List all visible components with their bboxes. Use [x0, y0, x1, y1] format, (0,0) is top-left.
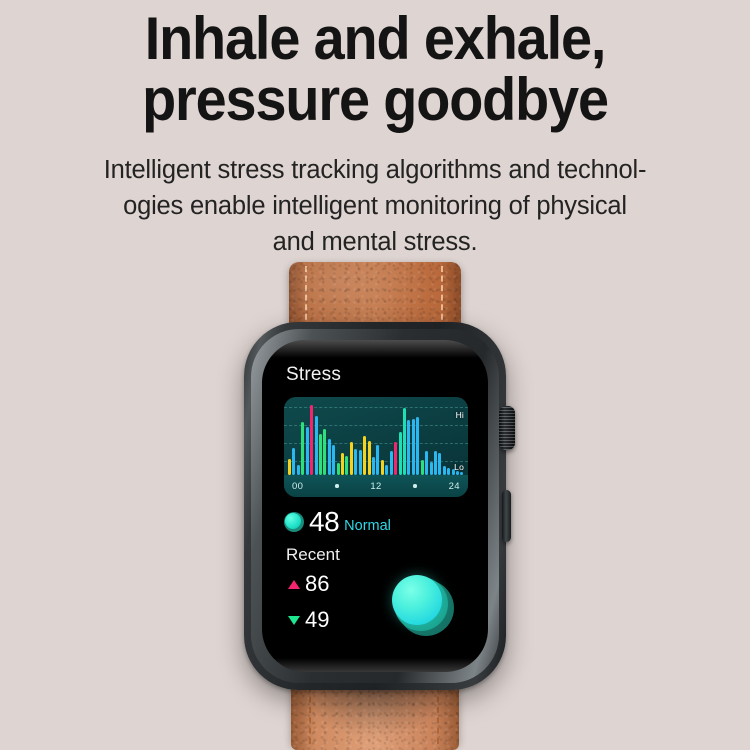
side-button[interactable]: [502, 490, 511, 542]
page-title: Stress: [286, 364, 468, 386]
chart-bar: [301, 422, 304, 475]
orb-core: [392, 575, 442, 625]
stress-chart-card[interactable]: Hi Lo 00 12 24: [284, 397, 468, 497]
chart-bar: [359, 450, 362, 475]
axis-dot-left-icon: [335, 484, 339, 488]
chart-bar: [350, 442, 353, 475]
chart-bar: [372, 457, 375, 475]
page-subcopy: Intelligent stress tracking algorithms a…: [0, 152, 750, 261]
chart-bar: [385, 465, 388, 475]
watch-bezel: Stress Hi Lo 00 12 24: [251, 329, 499, 683]
chart-bar: [430, 462, 433, 475]
stress-app-ui: Stress Hi Lo 00 12 24: [262, 340, 488, 672]
arrow-down-icon: [288, 616, 300, 625]
chart-bar: [363, 436, 366, 475]
axis-tick-24: 24: [449, 481, 460, 492]
dot-core: [285, 513, 301, 529]
chart-bar: [434, 451, 437, 476]
chart-bar: [416, 417, 419, 475]
chart-bar: [394, 442, 397, 475]
chart-bar: [376, 445, 379, 475]
chart-hi-label: Hi: [456, 410, 464, 420]
chart-bar: [306, 427, 309, 475]
chart-bar: [438, 453, 441, 475]
recent-list: 86 49: [288, 573, 329, 645]
recent-low-value: 49: [305, 609, 329, 631]
chart-bar: [332, 445, 335, 475]
chart-bar: [381, 460, 384, 475]
list-item: 49: [288, 609, 329, 631]
chart-bar: [297, 465, 300, 475]
breathe-orb-button[interactable]: [392, 575, 454, 637]
chart-bar: [319, 434, 322, 475]
chart-bar: [288, 459, 291, 475]
recent-section-label: Recent: [286, 545, 468, 565]
chart-bar: [421, 460, 424, 475]
crown-dial[interactable]: [499, 406, 515, 450]
stress-score-state: Normal: [344, 518, 391, 536]
arrow-up-icon: [288, 580, 300, 589]
headline-line-1: Inhale and exhale,: [26, 8, 724, 69]
chart-bars: [288, 401, 464, 475]
chart-bar: [443, 466, 446, 475]
chart-bar: [345, 456, 348, 475]
chart-bar: [425, 451, 428, 475]
chart-bar: [447, 468, 450, 475]
chart-bar: [399, 432, 402, 475]
watch-screen[interactable]: Stress Hi Lo 00 12 24: [262, 340, 488, 672]
chart-bar: [412, 419, 415, 475]
current-stress-score: 48 Normal: [284, 508, 468, 536]
watch-case: Stress Hi Lo 00 12 24: [244, 322, 506, 690]
axis-dot-right-icon: [413, 484, 417, 488]
chart-bar: [328, 439, 331, 475]
subcopy-line-2: ogies enable intelligent monitoring of p…: [0, 188, 750, 224]
chart-bar: [337, 463, 340, 475]
chart-bar: [323, 429, 326, 475]
chart-lo-label: Lo: [454, 462, 464, 472]
chart-bar: [341, 453, 344, 475]
axis-tick-00: 00: [292, 481, 303, 492]
stress-score-value: 48: [309, 508, 339, 536]
recent-high-value: 86: [305, 573, 329, 595]
page-headline: Inhale and exhale, pressure goodbye: [26, 8, 724, 130]
chart-bar: [315, 416, 318, 475]
axis-tick-12: 12: [370, 481, 381, 492]
subcopy-line-3: and mental stress.: [0, 224, 750, 260]
stress-level-dot-icon: [284, 512, 304, 532]
headline-line-2: pressure goodbye: [26, 69, 724, 130]
list-item: 86: [288, 573, 329, 595]
watch-product-image: Stress Hi Lo 00 12 24: [0, 262, 750, 750]
subcopy-line-1: Intelligent stress tracking algorithms a…: [0, 152, 750, 188]
recent-readings: 86 49: [284, 573, 468, 665]
chart-bar: [292, 448, 295, 475]
chart-bar: [407, 420, 410, 475]
chart-x-axis: 00 12 24: [284, 475, 468, 497]
chart-bar: [403, 408, 406, 475]
chart-bar: [368, 441, 371, 475]
chart-bar: [310, 405, 313, 475]
chart-bar: [354, 449, 357, 475]
chart-bar: [390, 451, 393, 476]
